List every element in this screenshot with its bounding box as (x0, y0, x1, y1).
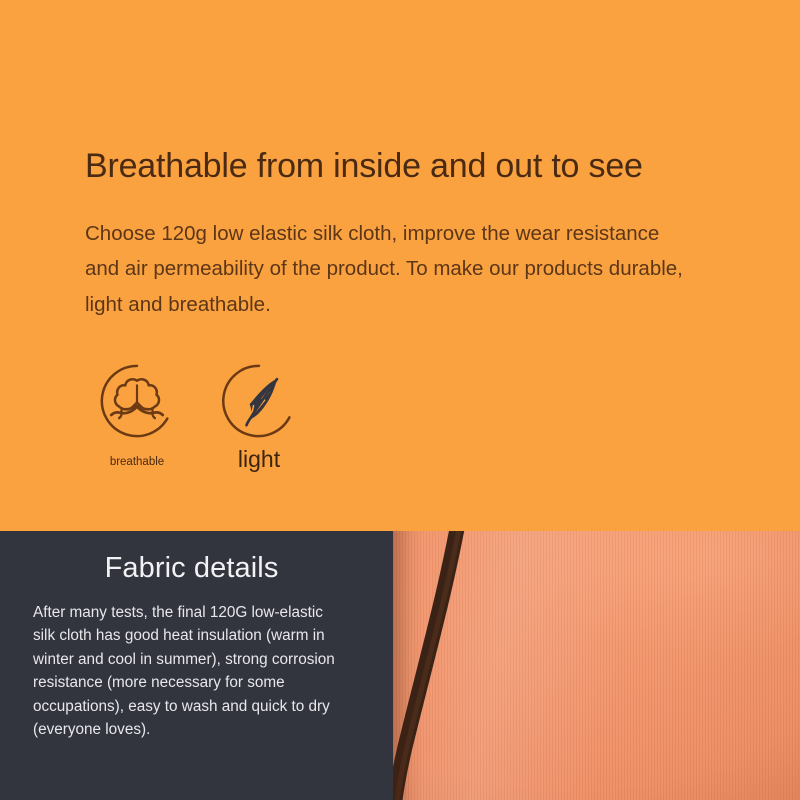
feature-label-breathable: breathable (110, 456, 164, 468)
fabric-details-title: Fabric details (0, 552, 393, 585)
feature-light: light (204, 362, 314, 473)
fabric-details-paragraph: After many tests, the final 120G low-ela… (33, 601, 335, 741)
fabric-details-panel: Fabric details After many tests, the fin… (0, 531, 393, 800)
feature-label-light: light (238, 446, 280, 473)
cotton-boll-icon (98, 362, 176, 440)
product-detail-page: Breathable from inside and out to see Ch… (0, 0, 800, 800)
feature-icon-group: breathable light (85, 362, 314, 473)
fabric-vignette (393, 531, 800, 800)
intro-paragraph: Choose 120g low elastic silk cloth, impr… (85, 216, 695, 322)
feather-icon (220, 362, 298, 440)
fabric-photo (393, 531, 800, 800)
page-title: Breathable from inside and out to see (85, 148, 643, 185)
top-orange-panel: Breathable from inside and out to see Ch… (0, 0, 800, 531)
feature-breathable: breathable (85, 362, 189, 468)
bottom-section: Fabric details After many tests, the fin… (0, 531, 800, 800)
